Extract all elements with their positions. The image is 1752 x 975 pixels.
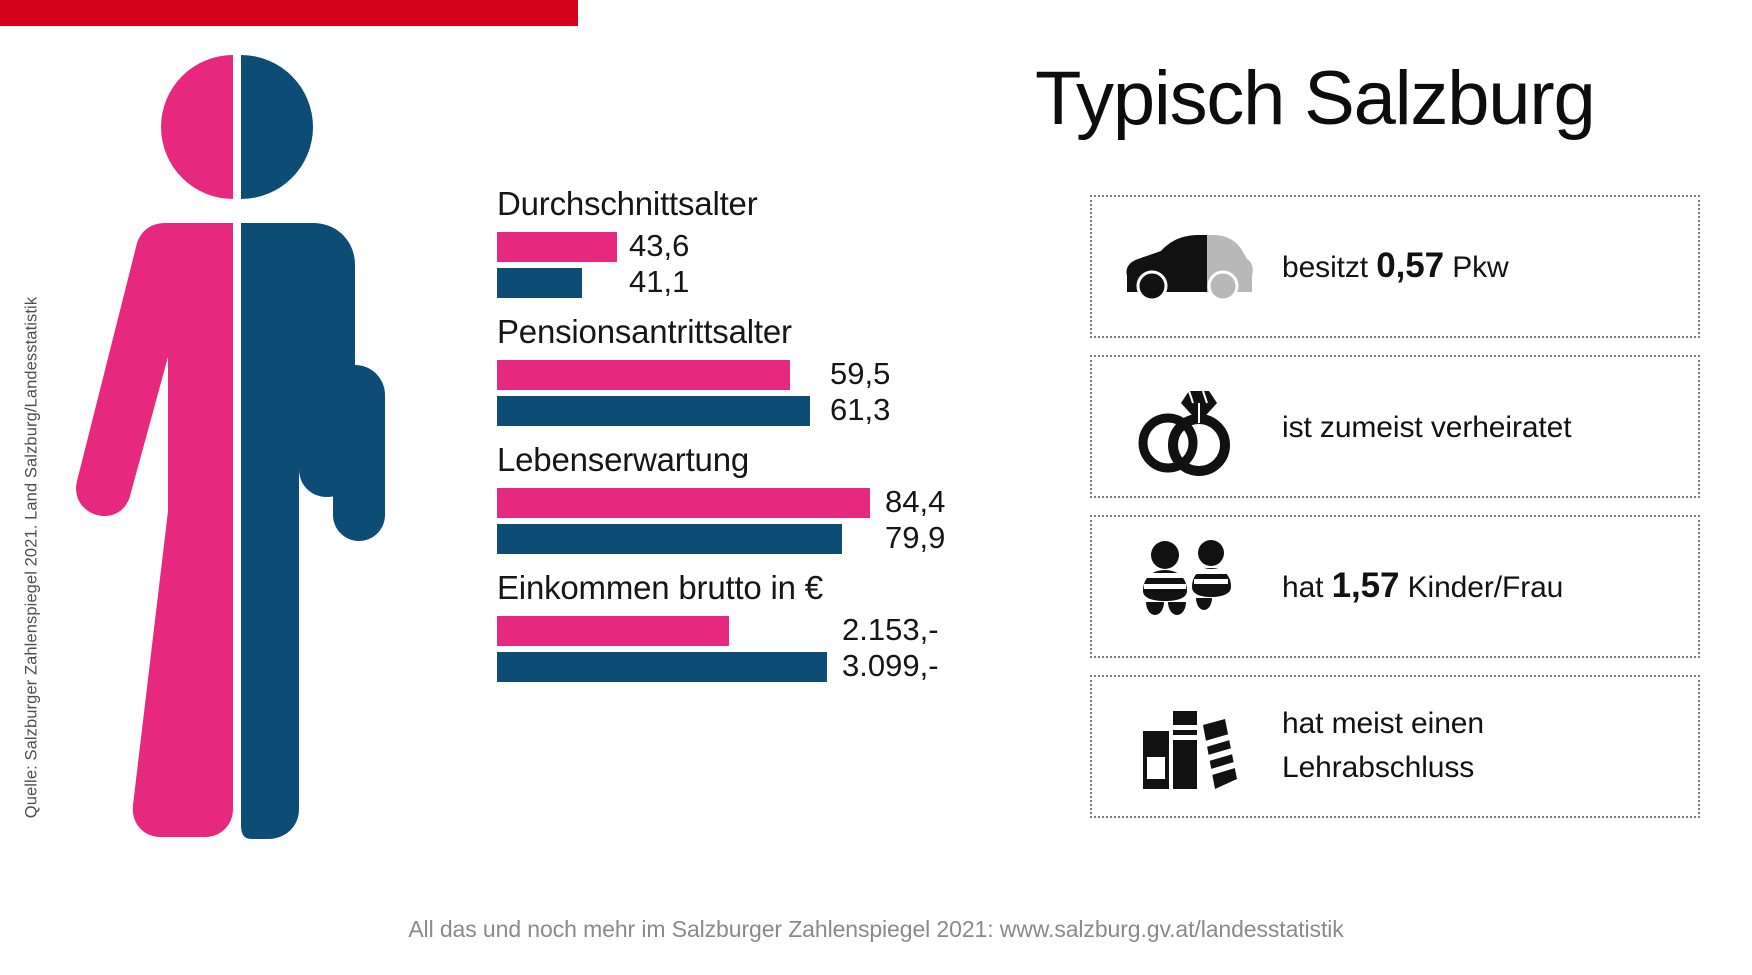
fact-card-text: besitzt 0,57 Pkw <box>1282 243 1523 289</box>
bar-chart-section: Durchschnittsalter 43,6 41,1 Pensionsant… <box>497 185 967 697</box>
bar-female <box>497 232 617 262</box>
fact-text-after: Pkw <box>1444 251 1509 284</box>
car-icon <box>1092 197 1282 336</box>
chart-title: Durchschnittsalter <box>497 185 967 223</box>
wedding-rings-icon <box>1092 357 1282 496</box>
bar-value-male: 61,3 <box>830 392 890 428</box>
bar-row-female: 59,5 <box>497 360 967 393</box>
fact-card-education: hat meist einen Lehrabschluss <box>1090 675 1700 818</box>
fact-card-children: hat 1,57 Kinder/Frau <box>1090 515 1700 658</box>
footer-note: All das und noch mehr im Salzburger Zahl… <box>0 916 1752 943</box>
gender-pictogram <box>55 45 415 860</box>
bar-value-female: 2.153,- <box>842 612 939 648</box>
chart-title: Pensionsantrittsalter <box>497 313 967 351</box>
bar-male <box>497 396 810 426</box>
bar-female <box>497 360 790 390</box>
chart-group-lebenserwartung: Lebenserwartung 84,4 79,9 <box>497 441 967 557</box>
bar-female <box>497 616 729 646</box>
bar-male <box>497 652 827 682</box>
chart-group-einkommen: Einkommen brutto in € 2.153,- 3.099,- <box>497 569 967 685</box>
bar-row-male: 61,3 <box>497 396 967 429</box>
female-half-icon <box>76 55 233 837</box>
fact-card-married: ist zumeist verheiratet <box>1090 355 1700 498</box>
fact-cards: besitzt 0,57 Pkw ist zumeist verheiratet <box>1090 195 1700 835</box>
bar-value-female: 43,6 <box>629 228 689 264</box>
bar-value-male: 79,9 <box>885 520 945 556</box>
books-icon <box>1092 677 1282 816</box>
fact-card-text: hat 1,57 Kinder/Frau <box>1282 563 1577 609</box>
chart-group-pensionsantrittsalter: Pensionsantrittsalter 59,5 61,3 <box>497 313 967 429</box>
chart-group-durchschnittsalter: Durchschnittsalter 43,6 41,1 <box>497 185 967 301</box>
fact-card-text: ist zumeist verheiratet <box>1282 403 1585 449</box>
bar-row-female: 2.153,- <box>497 616 967 649</box>
bar-row-female: 84,4 <box>497 488 967 521</box>
fact-text-before: ist zumeist verheiratet <box>1282 411 1571 444</box>
bar-male <box>497 268 582 298</box>
fact-text-before: hat <box>1282 571 1332 604</box>
fact-value: 1,57 <box>1332 566 1400 605</box>
chart-title: Lebenserwartung <box>497 441 967 479</box>
bar-value-female: 84,4 <box>885 484 945 520</box>
fact-text-after: Kinder/Frau <box>1399 571 1563 604</box>
fact-text-before: besitzt <box>1282 251 1376 284</box>
bar-row-female: 43,6 <box>497 232 967 265</box>
male-half-icon <box>241 55 385 839</box>
bar-row-male: 41,1 <box>497 268 967 301</box>
fact-card-car: besitzt 0,57 Pkw <box>1090 195 1700 338</box>
chart-title: Einkommen brutto in € <box>497 569 967 607</box>
bar-value-male: 41,1 <box>629 264 689 300</box>
bar-row-male: 79,9 <box>497 524 967 557</box>
fact-text-before: hat meist einen Lehrabschluss <box>1282 707 1484 785</box>
accent-bar <box>0 0 578 26</box>
page-title: Typisch Salzburg <box>1035 55 1595 142</box>
bar-male <box>497 524 842 554</box>
infographic-root: Quelle: Salzburger Zahlenspiegel 2021. L… <box>0 0 1752 975</box>
bar-female <box>497 488 870 518</box>
children-icon <box>1092 517 1282 656</box>
bar-value-male: 3.099,- <box>842 648 939 684</box>
fact-value: 0,57 <box>1376 246 1444 285</box>
source-note: Quelle: Salzburger Zahlenspiegel 2021. L… <box>23 288 42 828</box>
bar-value-female: 59,5 <box>830 356 890 392</box>
fact-card-text: hat meist einen Lehrabschluss <box>1282 704 1698 790</box>
bar-row-male: 3.099,- <box>497 652 967 685</box>
